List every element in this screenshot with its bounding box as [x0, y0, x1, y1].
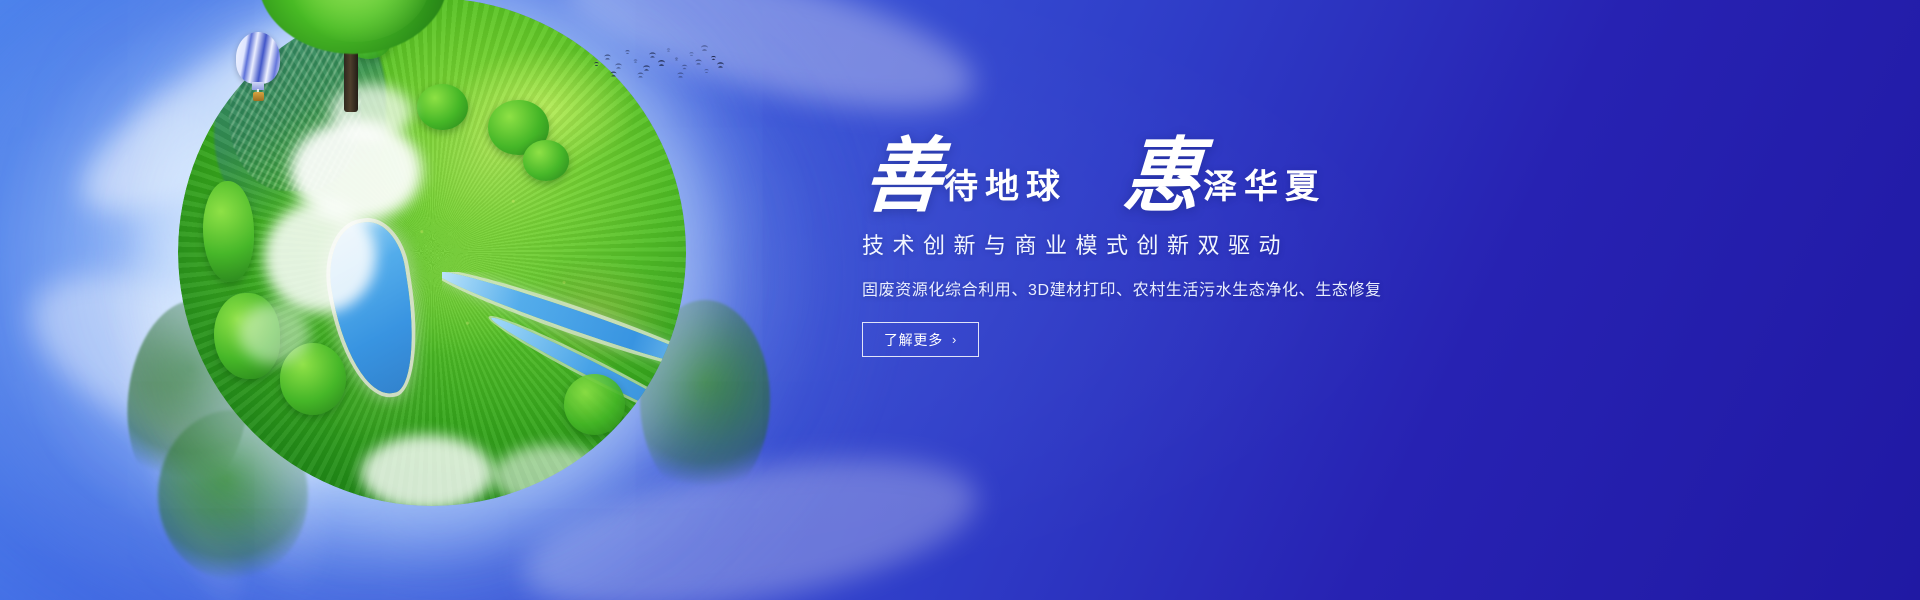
- learn-more-label: 了解更多: [884, 330, 943, 350]
- globe-bush: [523, 140, 569, 181]
- bird-icon: [675, 58, 679, 61]
- bird-icon: [610, 71, 616, 76]
- headline-rest-daidiqiu: 待地球: [944, 159, 1067, 214]
- bird-icon: [658, 60, 665, 66]
- bird-icon: [667, 49, 671, 52]
- headline-rest-zehuaxia: 泽华夏: [1203, 159, 1326, 214]
- bird-icon: [643, 65, 650, 71]
- hero-subtitle: 技术创新与商业模式创新双驱动: [862, 228, 1622, 260]
- bird-icon: [649, 52, 656, 57]
- globe-bush: [564, 374, 625, 435]
- bird-icon: [682, 65, 688, 70]
- globe-cloud: [361, 435, 493, 506]
- hero-description: 固废资源化综合利用、3D建材打印、农村生活污水生态净化、生态修复: [862, 276, 1622, 300]
- tree-icon: [258, 0, 448, 94]
- bird-icon: [695, 59, 702, 64]
- bird-icon: [677, 72, 684, 77]
- page-title: 善 待地球 惠 泽华夏: [862, 128, 1622, 214]
- globe-cloud: [264, 201, 376, 313]
- balloon-basket: [253, 92, 264, 101]
- bird-icon: [594, 62, 599, 66]
- hero-banner: 善 待地球 惠 泽华夏 技术创新与商业模式创新双驱动 固废资源化综合利用、3D建…: [0, 0, 1920, 600]
- bird-icon: [704, 69, 709, 73]
- headline-char-shan: 善: [862, 139, 944, 214]
- bird-flock-icon: [592, 42, 722, 84]
- bird-icon: [625, 50, 630, 54]
- globe-cloud: [493, 445, 605, 506]
- chevron-right-icon: ›: [952, 332, 957, 347]
- balloon-envelope: [236, 32, 280, 84]
- globe-cloud: [239, 303, 310, 364]
- hot-air-balloon-icon: [236, 32, 280, 110]
- bird-icon: [711, 56, 716, 60]
- bird-icon: [689, 52, 694, 56]
- bird-icon: [604, 54, 611, 59]
- bird-icon: [615, 63, 622, 68]
- bird-icon: [637, 73, 643, 78]
- bird-icon: [717, 62, 724, 68]
- learn-more-button[interactable]: 了解更多 ›: [862, 322, 979, 357]
- globe-bush: [203, 181, 254, 283]
- bird-icon: [701, 45, 708, 51]
- bird-icon: [634, 59, 638, 62]
- hero-copy: 善 待地球 惠 泽华夏 技术创新与商业模式创新双驱动 固废资源化综合利用、3D建…: [862, 128, 1622, 357]
- headline-char-hui: 惠: [1121, 139, 1203, 214]
